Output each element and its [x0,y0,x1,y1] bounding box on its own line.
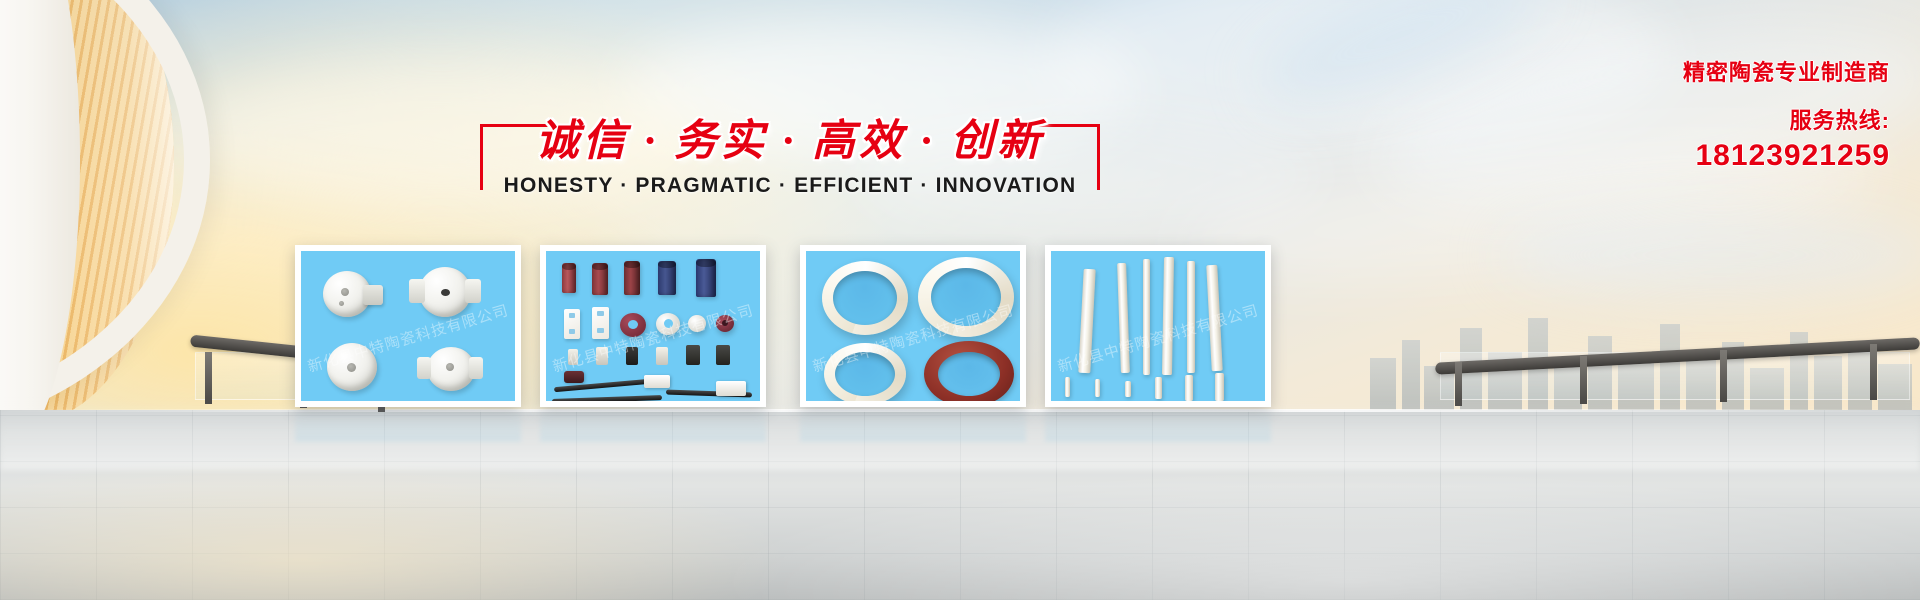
product-panel-3[interactable]: 新化县中特陶瓷科技有限公司 [800,245,1026,407]
product-panel-2[interactable]: 新化县中特陶瓷科技有限公司 [540,245,766,407]
product-panel-4[interactable]: 新化县中特陶瓷科技有限公司 [1045,245,1271,407]
product-panel-row: 新化县中特陶瓷科技有限公司 [0,0,1920,600]
hero-banner: 诚信 · 务实 · 高效 · 创新 HONESTY · PRAGMATIC · … [0,0,1920,600]
panel-watermark: 新化县中特陶瓷科技有限公司 [550,299,756,377]
product-panel-1[interactable]: 新化县中特陶瓷科技有限公司 [295,245,521,407]
floor-reflection [0,400,1920,470]
